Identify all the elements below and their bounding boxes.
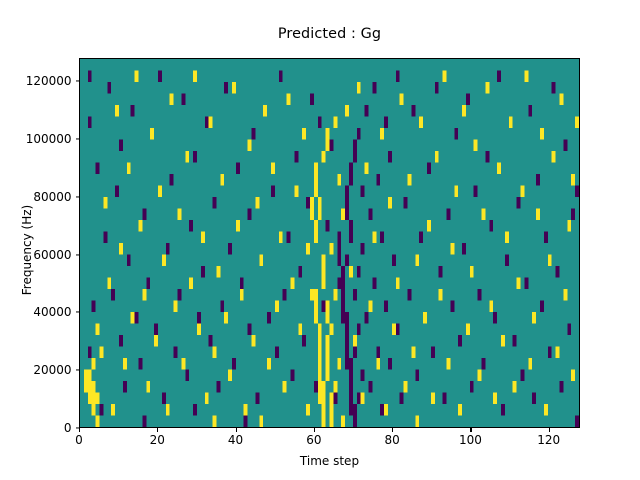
x-tick-label: 60	[284, 433, 344, 447]
x-tick-mark	[79, 428, 80, 432]
matplotlib-figure: Predicted : Gg 0200004000060000800001000…	[0, 0, 640, 480]
x-tick-label: 20	[127, 433, 187, 447]
page-title: Predicted : Gg	[79, 26, 580, 42]
y-tick-mark	[76, 138, 80, 139]
x-tick-label: 120	[519, 433, 579, 447]
x-tick-label: 80	[362, 433, 422, 447]
y-tick-mark	[76, 370, 80, 371]
x-tick-mark	[470, 428, 471, 432]
x-tick-mark	[236, 428, 237, 432]
y-tick-mark	[76, 312, 80, 313]
x-tick-label: 100	[440, 433, 500, 447]
x-tick-label: 40	[206, 433, 266, 447]
heatmap-image	[80, 59, 579, 427]
x-tick-label: 0	[49, 433, 109, 447]
y-tick-mark	[76, 254, 80, 255]
y-tick-mark	[76, 81, 80, 82]
y-tick-label: 120000	[6, 74, 72, 88]
x-tick-mark	[392, 428, 393, 432]
y-tick-label: 20000	[6, 363, 72, 377]
heatmap-plot-area	[79, 58, 580, 428]
x-tick-mark	[314, 428, 315, 432]
y-axis-label: Frequency (Hz)	[20, 170, 34, 330]
x-axis-label: Time step	[79, 454, 580, 468]
y-tick-label: 40000	[6, 305, 72, 319]
y-tick-label: 80000	[6, 190, 72, 204]
y-tick-mark	[76, 196, 80, 197]
x-tick-mark	[157, 428, 158, 432]
y-tick-label: 100000	[6, 132, 72, 146]
x-tick-mark	[549, 428, 550, 432]
y-tick-label: 60000	[6, 248, 72, 262]
